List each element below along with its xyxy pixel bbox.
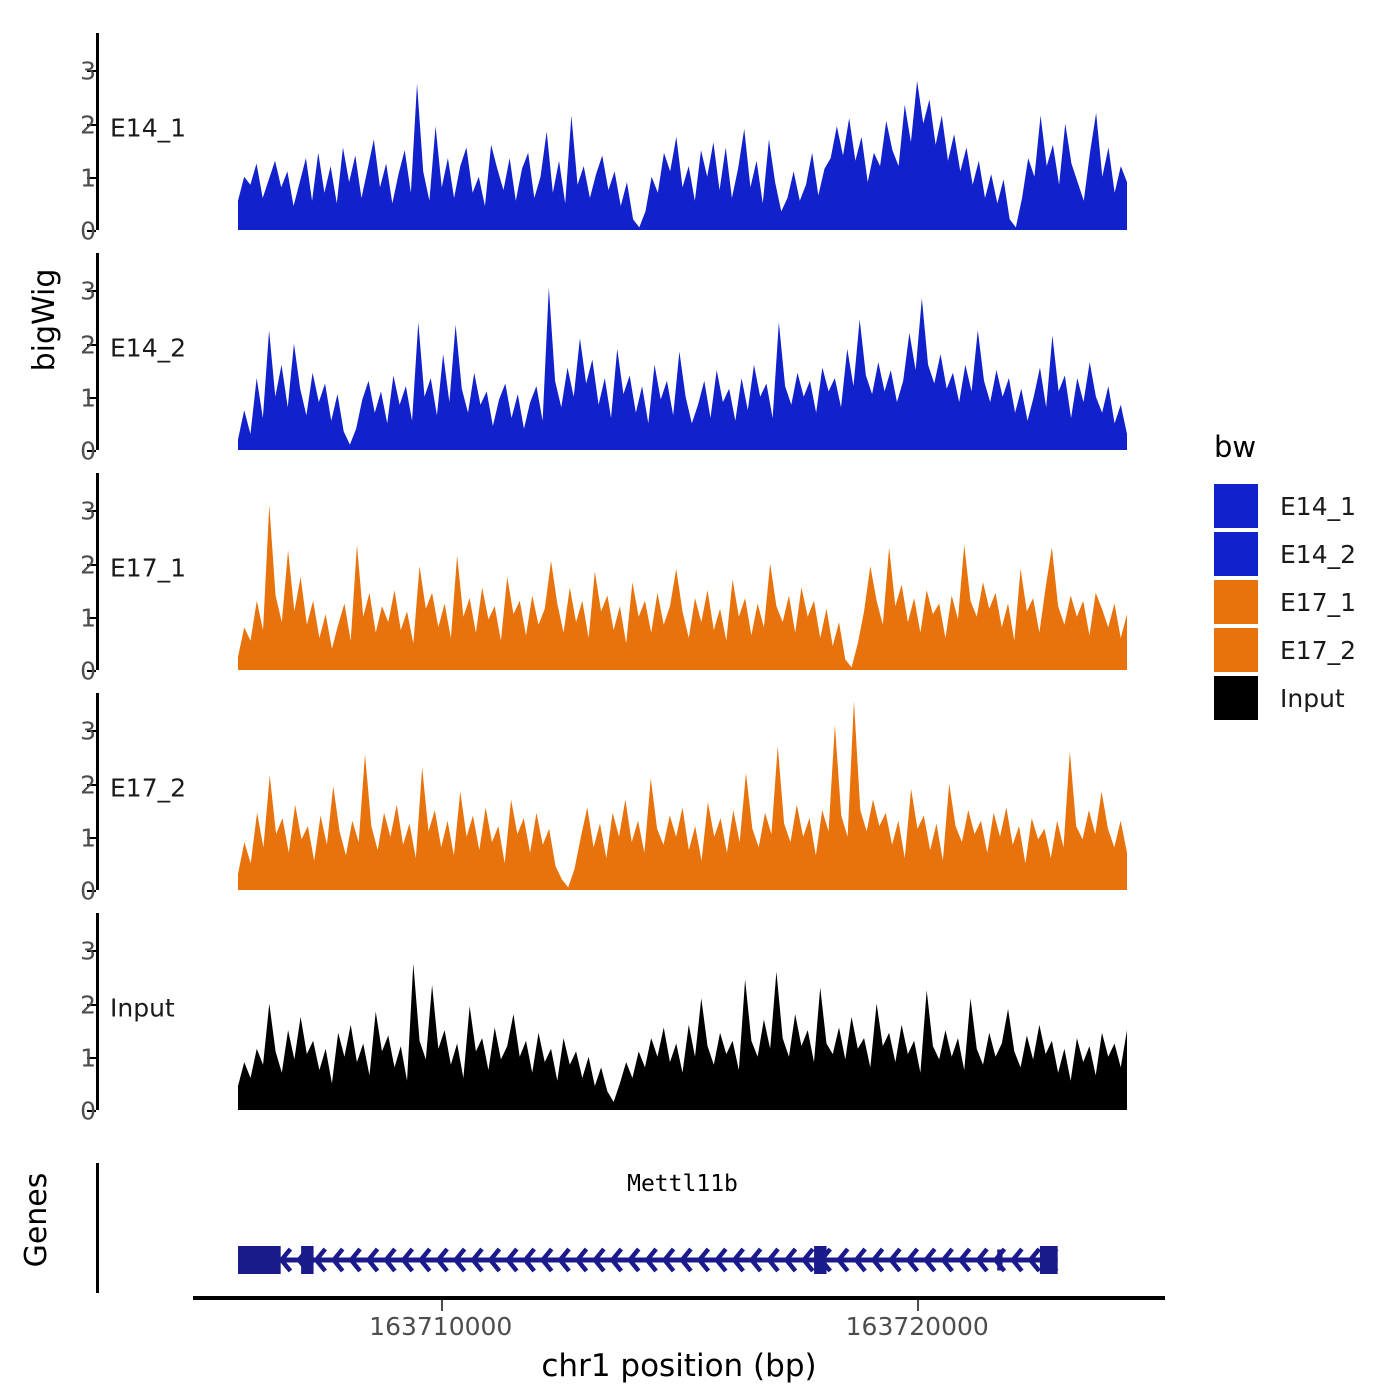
genes-axis-line — [96, 1163, 99, 1293]
legend-color-swatch — [1214, 580, 1258, 624]
legend-color-swatch — [1214, 628, 1258, 672]
x-tick-label: 163710000 — [369, 1312, 512, 1341]
plot-area-input[interactable] — [238, 913, 1127, 1110]
y-axis-title-genes: Genes — [17, 1125, 57, 1315]
track-label-e17_1: E17_1 — [110, 553, 186, 582]
plot-area-e17_2[interactable] — [238, 693, 1127, 890]
genes-panel: Mettl11b — [96, 1163, 1166, 1293]
plot-area-e14_1[interactable] — [238, 33, 1127, 230]
track-label-input: Input — [110, 993, 175, 1022]
gene-model-track[interactable] — [238, 1163, 1127, 1293]
x-tick — [441, 1300, 443, 1311]
x-axis-title: chr1 position (bp) — [193, 1348, 1165, 1384]
y-tick-label: 0 — [80, 877, 96, 906]
track-label-e17_2: E17_2 — [110, 773, 186, 802]
y-tick-label: 3 — [80, 497, 96, 526]
legend-color-swatch — [1214, 532, 1258, 576]
y-tick-label: 2 — [80, 550, 96, 579]
plot-area-e14_2[interactable] — [238, 253, 1127, 450]
y-axis-line — [96, 33, 99, 230]
y-tick-label: 0 — [80, 437, 96, 466]
legend-item-e17_2[interactable]: E17_2 — [1214, 626, 1394, 674]
legend-item-label: E17_1 — [1280, 588, 1356, 617]
track-panel-e14_2: 0123E14_2 — [96, 253, 1166, 450]
y-tick-label: 1 — [80, 603, 96, 632]
legend-item-e14_1[interactable]: E14_1 — [1214, 482, 1394, 530]
plot-area-e17_1[interactable] — [238, 473, 1127, 670]
track-label-e14_1: E14_1 — [110, 113, 186, 142]
track-panel-e14_1: 0123E14_1 — [96, 33, 1166, 230]
legend-item-label: E14_1 — [1280, 492, 1356, 521]
x-tick-label: 163720000 — [846, 1312, 989, 1341]
y-tick-label: 0 — [80, 217, 96, 246]
y-tick-label: 1 — [80, 163, 96, 192]
y-tick-label: 3 — [80, 717, 96, 746]
y-axis-line — [96, 473, 99, 670]
y-axis-line — [96, 693, 99, 890]
track-label-e14_2: E14_2 — [110, 333, 186, 362]
legend-item-label: E17_2 — [1280, 636, 1356, 665]
y-tick-label: 1 — [80, 823, 96, 852]
x-axis-line — [193, 1296, 1165, 1300]
y-axis-title-bigwig: bigWig — [25, 220, 65, 420]
legend-item-e14_2[interactable]: E14_2 — [1214, 530, 1394, 578]
y-tick-label: 3 — [80, 937, 96, 966]
legend-item-e17_1[interactable]: E17_1 — [1214, 578, 1394, 626]
track-panel-input: 0123Input — [96, 913, 1166, 1110]
y-tick-label: 1 — [80, 1043, 96, 1072]
y-tick-label: 3 — [80, 277, 96, 306]
y-tick-label: 2 — [80, 770, 96, 799]
legend-rows: E14_1E14_2E17_1E17_2Input — [1214, 482, 1394, 722]
track-panel-e17_1: 0123E17_1 — [96, 473, 1166, 670]
legend-color-swatch — [1214, 484, 1258, 528]
y-tick-label: 0 — [80, 1097, 96, 1126]
legend-title: bw — [1214, 430, 1394, 464]
y-tick-label: 2 — [80, 990, 96, 1019]
y-axis-line — [96, 913, 99, 1110]
y-tick-label: 0 — [80, 657, 96, 686]
track-panel-e17_2: 0123E17_2 — [96, 693, 1166, 890]
y-tick-label: 2 — [80, 110, 96, 139]
legend-item-label: Input — [1280, 684, 1345, 713]
y-tick-label: 2 — [80, 330, 96, 359]
legend-item-label: E14_2 — [1280, 540, 1356, 569]
x-tick — [917, 1300, 919, 1311]
legend-item-input[interactable]: Input — [1214, 674, 1394, 722]
legend: bw E14_1E14_2E17_1E17_2Input — [1214, 430, 1394, 722]
legend-color-swatch — [1214, 676, 1258, 720]
y-tick-label: 3 — [80, 57, 96, 86]
y-axis-line — [96, 253, 99, 450]
y-tick-label: 1 — [80, 383, 96, 412]
